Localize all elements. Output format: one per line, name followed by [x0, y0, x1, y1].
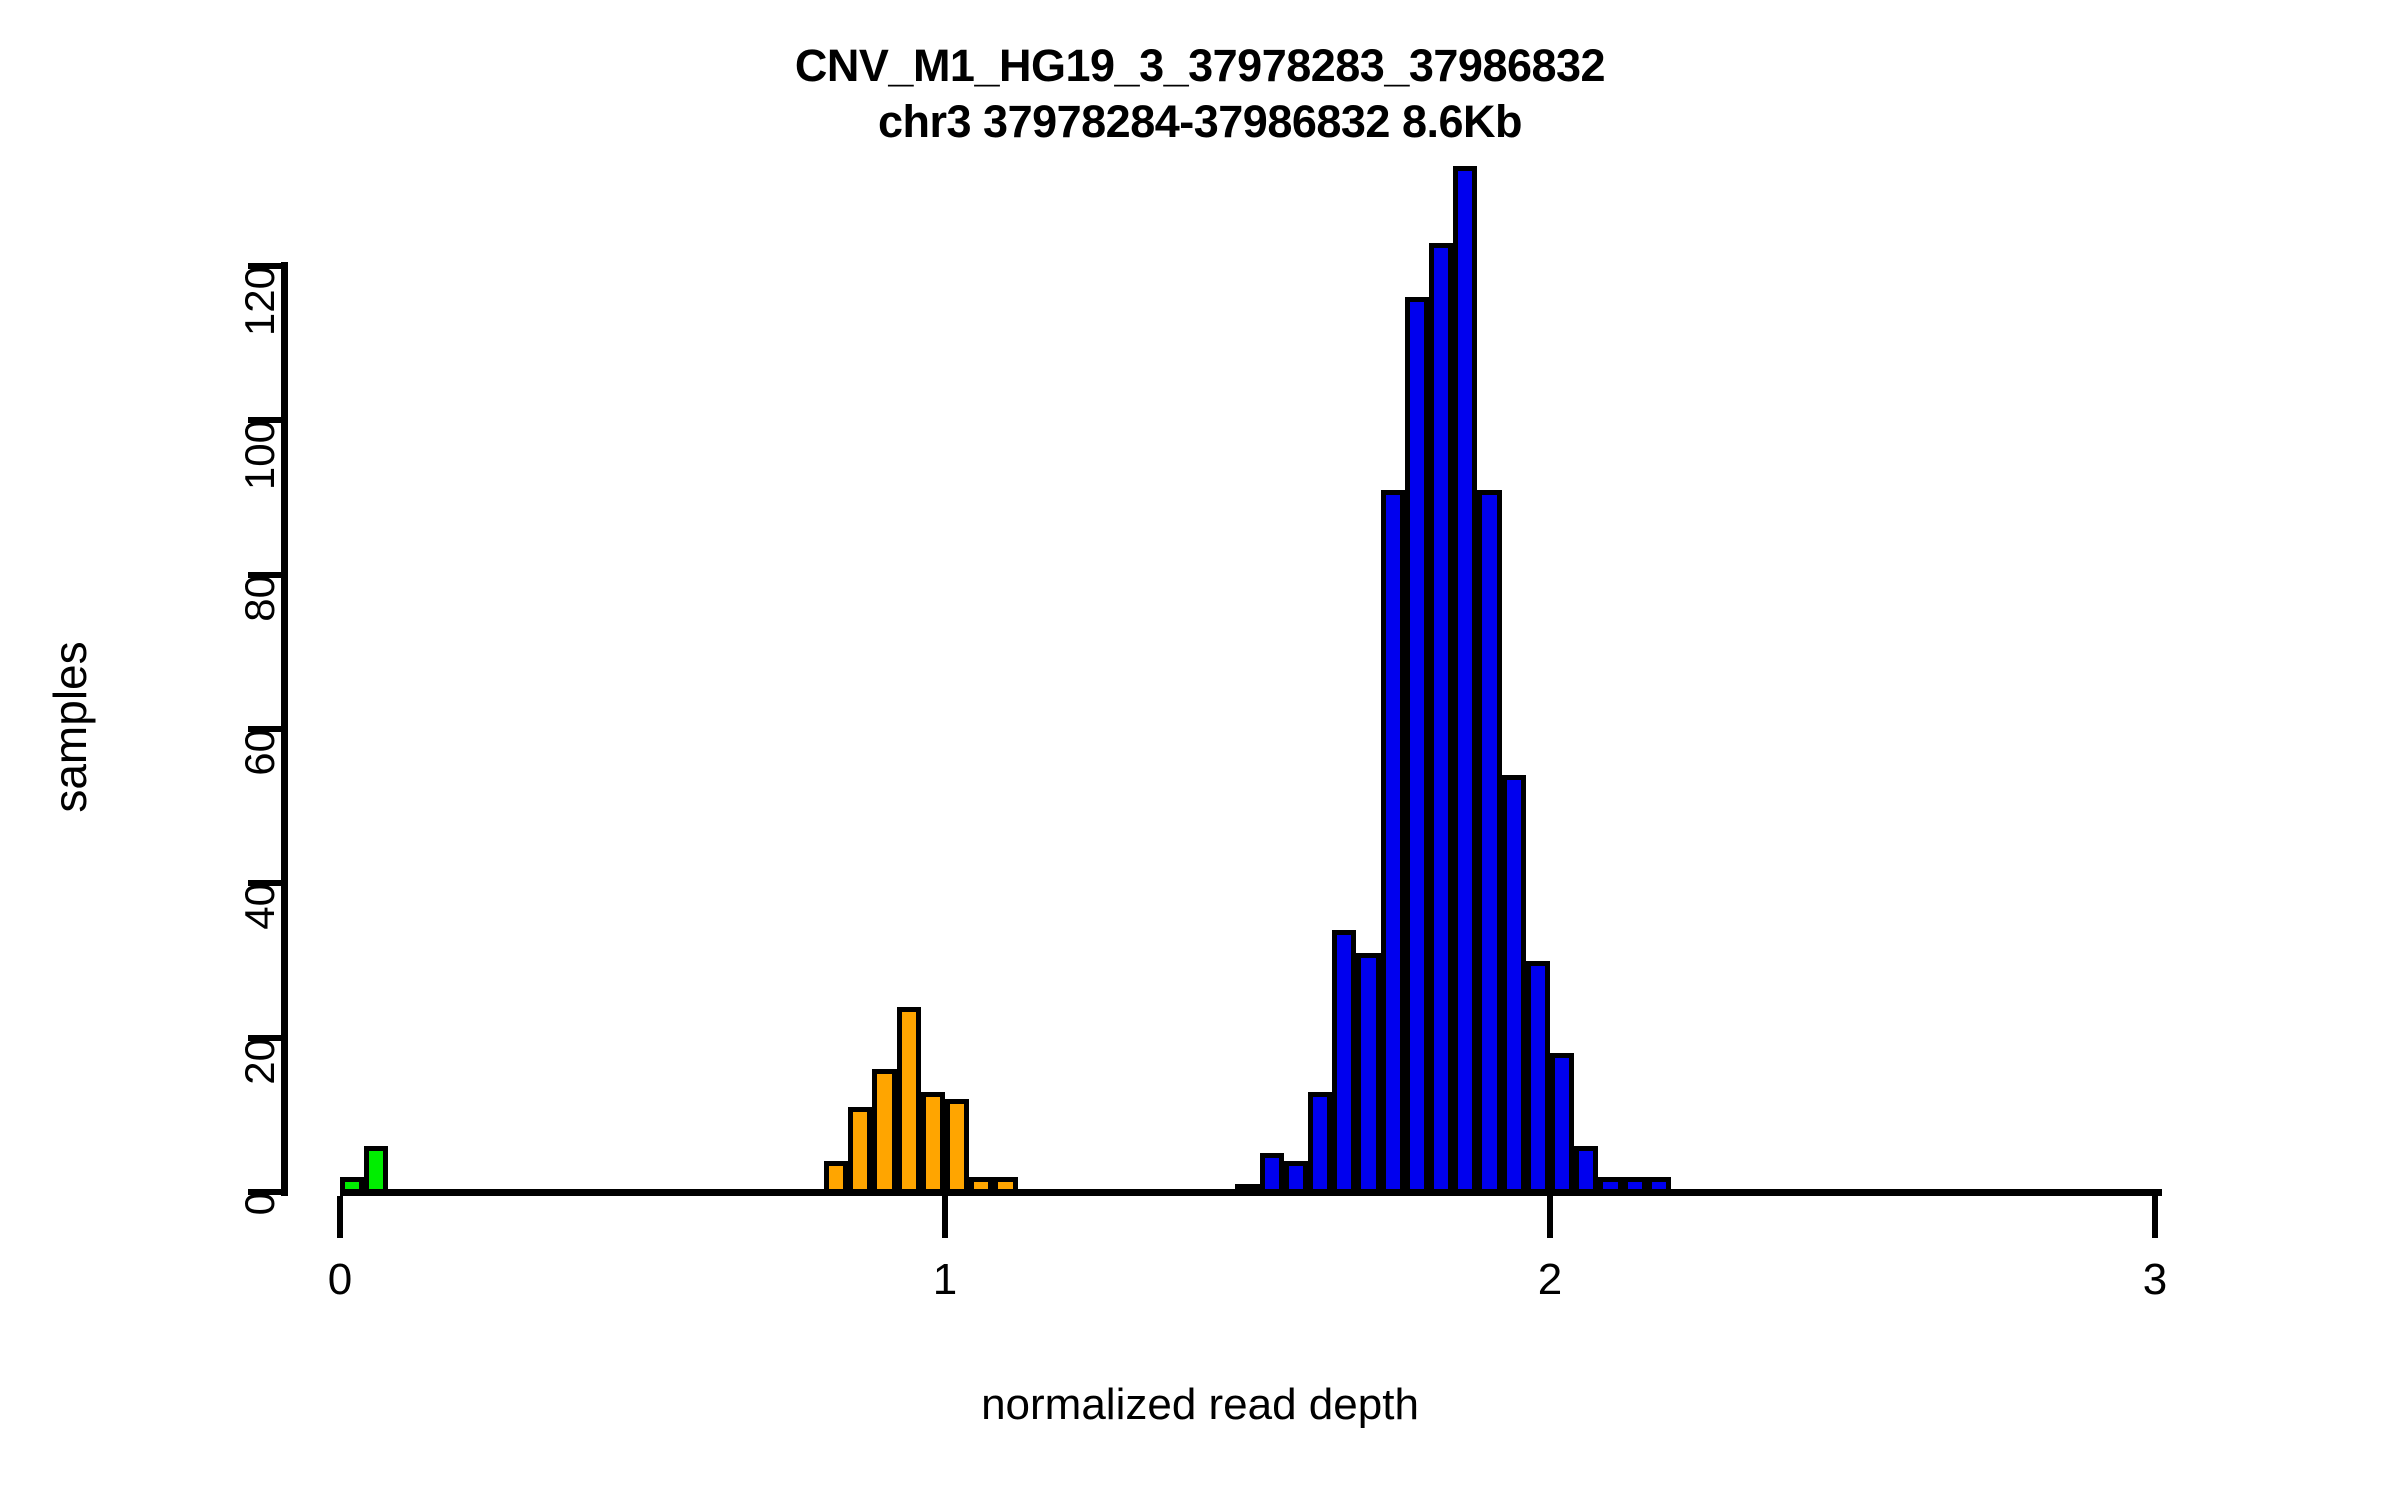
histogram-bar [1526, 961, 1550, 1197]
histogram-bar [848, 1107, 872, 1196]
histogram-bar [1381, 490, 1405, 1196]
x-axis-tick-label: 3 [2095, 1255, 2215, 1305]
x-axis-title: normalized read depth [0, 1380, 2400, 1430]
histogram-bar [1477, 490, 1501, 1196]
histogram-bar [945, 1099, 969, 1196]
histogram-bar [1502, 775, 1526, 1196]
chart-title: CNV_M1_HG19_3_37978283_37986832 [0, 38, 2400, 94]
histogram-bar [897, 1007, 921, 1196]
histogram-bar [1356, 953, 1380, 1196]
y-axis-title-holder: samples [10, 0, 130, 1500]
x-axis-tick [1547, 1196, 1553, 1238]
y-axis-line [281, 262, 288, 1196]
histogram-bar [1550, 1053, 1574, 1196]
x-axis-tick [337, 1196, 343, 1238]
x-axis-tick [942, 1196, 948, 1238]
histogram-bar [1453, 166, 1477, 1196]
x-axis-line [340, 1189, 2162, 1196]
histogram-bar [1332, 930, 1356, 1196]
chart-title-block: CNV_M1_HG19_3_37978283_37986832 chr3 379… [0, 38, 2400, 150]
chart-subtitle: chr3 37978284-37986832 8.6Kb [0, 94, 2400, 150]
histogram-bar [1429, 243, 1453, 1196]
x-axis-tick-label: 0 [280, 1255, 400, 1305]
x-axis-tick [2152, 1196, 2158, 1238]
histogram-bar [921, 1092, 945, 1196]
x-axis-tick-label: 1 [885, 1255, 1005, 1305]
histogram-bar [872, 1069, 896, 1196]
histogram-bar [1405, 297, 1429, 1196]
x-axis-tick-label: 2 [1490, 1255, 1610, 1305]
histogram-bar [1308, 1092, 1332, 1196]
histogram-figure: CNV_M1_HG19_3_37978283_37986832 chr3 379… [0, 0, 2400, 1500]
y-axis-title: samples [43, 597, 97, 857]
